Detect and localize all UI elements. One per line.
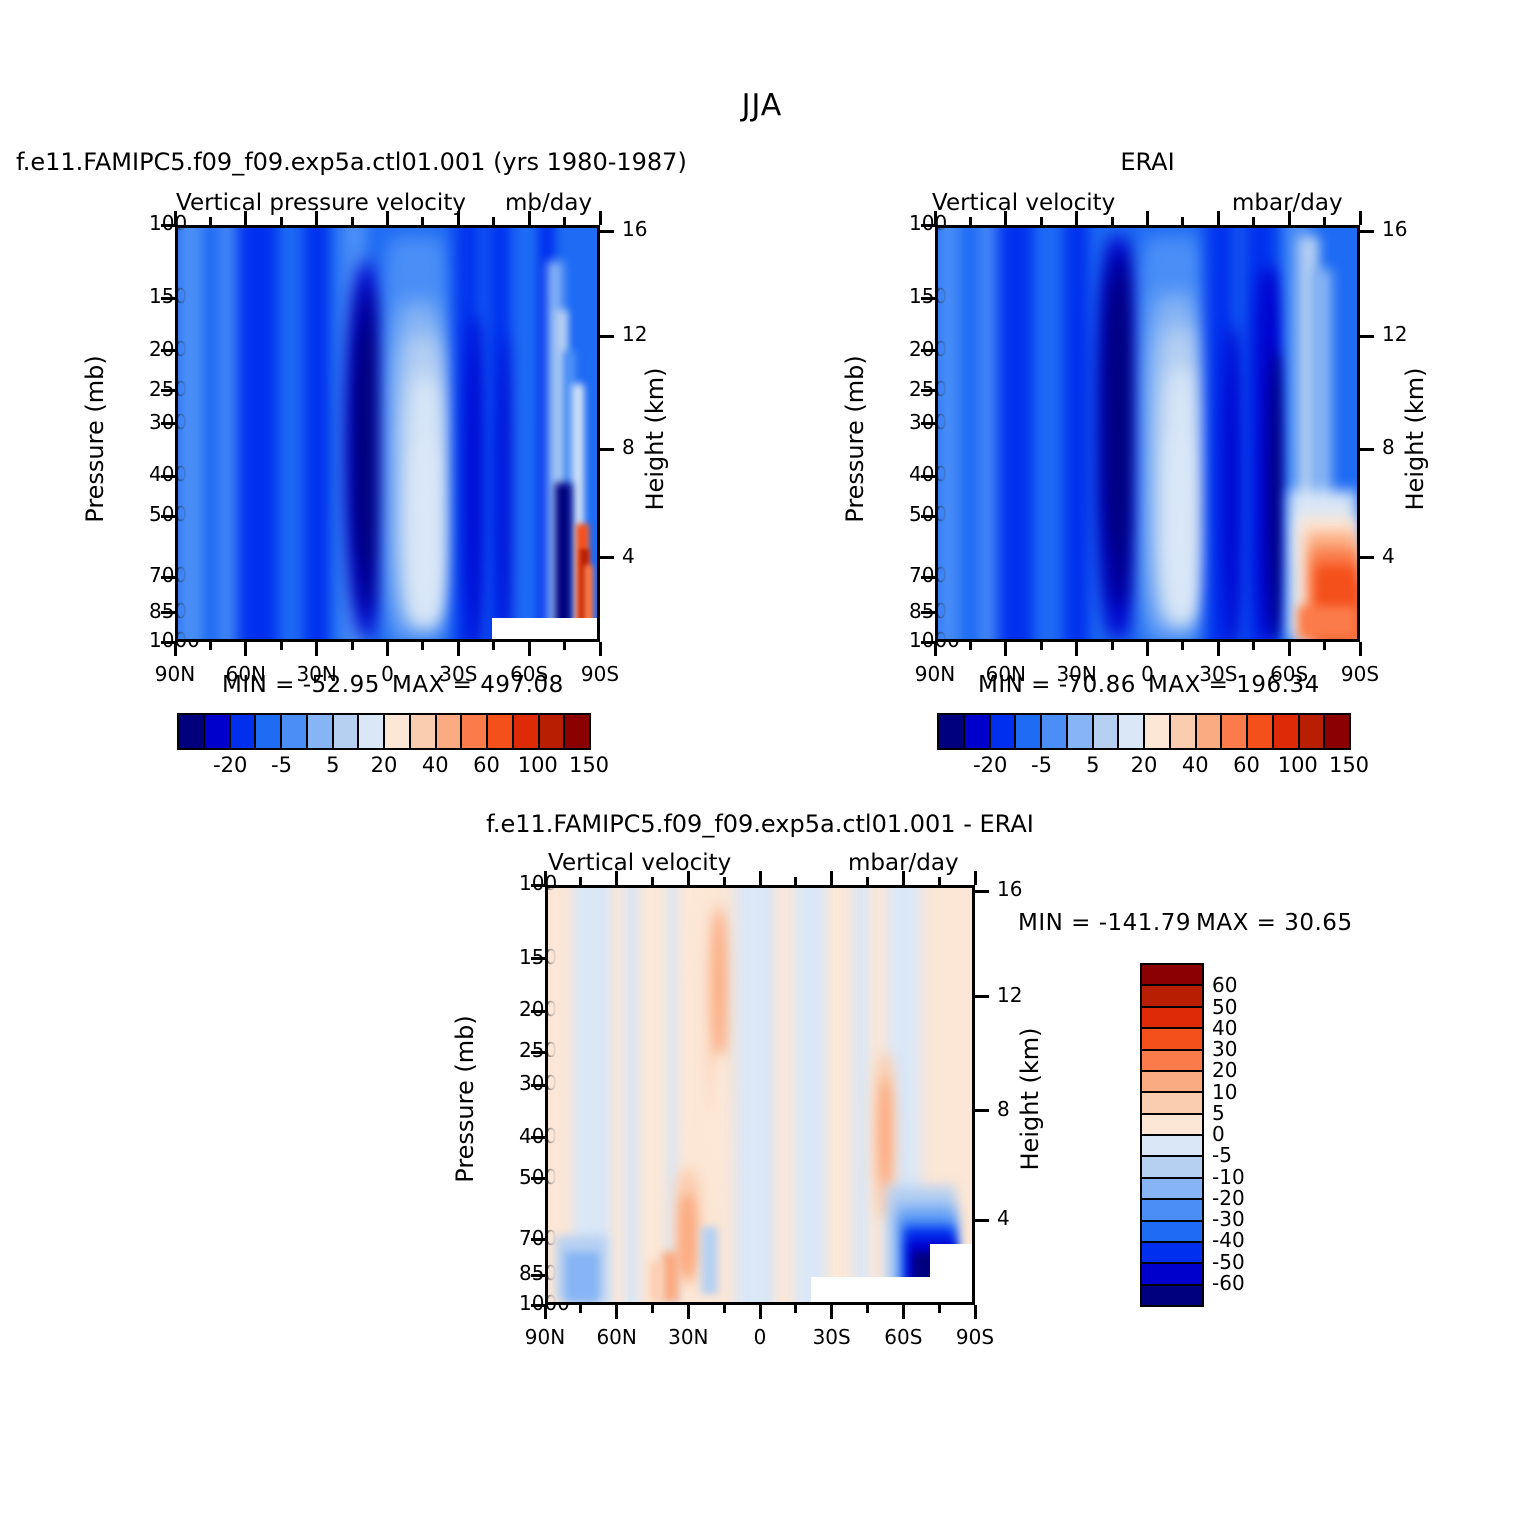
contour-band [879,1078,892,1186]
colorbar-diff-cell-15 [1142,1286,1202,1305]
panel-model-xtick-10 [528,642,531,656]
panel-model-y2tick-4 [600,556,614,559]
panel-obs-y2tick-16 [1360,230,1374,233]
panel-obs-xtick-7 [1181,642,1184,650]
panel-diff-min-text: MIN = -141.79 [1018,910,1191,936]
panel-model-xtick-7 [421,642,424,650]
panel-diff-y2tick-label-12: 12 [997,983,1022,1007]
panel-obs-xtick-label-90N: 90N [895,662,975,686]
cb-model-cell-8 [385,715,411,748]
panel-diff-title: f.e11.FAMIPC5.f09_f09.exp5a.ctl01.001 - … [260,810,1260,838]
terrain-mask [492,618,597,642]
panel-diff-contour-field [548,888,972,1302]
panel-diff-pressure-axis-label: Pressure (mb) [451,999,479,1199]
contour-band [709,1054,734,1178]
cb-obs-cell-3 [1016,715,1042,748]
panel-obs-height-axis-label: Height (km) [1401,339,1429,539]
cb-obs-cell-11 [1222,715,1248,748]
colorbar-diff-cell-0 [1142,965,1202,986]
panel-diff-y2tick-label-16: 16 [997,877,1022,901]
panel-model-xtick-12 [599,642,602,656]
contour-band [735,885,782,1305]
cb-model-cell-14 [540,715,566,748]
panel-model-units-label: mb/day [505,190,592,216]
panel-diff-xtick-label-60N: 60N [577,1325,657,1349]
panel-obs-xtick-6 [1146,642,1149,656]
cb-obs-cell-13 [1274,715,1300,748]
colorbar-diff-cell-3 [1142,1029,1202,1050]
panel-diff-xtick-top-2 [615,871,618,885]
panel-obs-y2tick-label-16: 16 [1382,217,1407,241]
panel-obs-xtick-label-60N: 60N [966,662,1046,686]
cb-obs-cell-9 [1171,715,1197,748]
panel-diff-xtick-top-8 [830,871,833,885]
panel-obs-xtick-label-60S: 60S [1249,662,1329,686]
panel-obs-pressure-axis-label: Pressure (mb) [841,339,869,539]
panel-obs-y2tick-label-8: 8 [1382,435,1395,459]
panel-model-xtick-5 [351,642,354,650]
cb-model-cell-2 [231,715,257,748]
panel-model-xtick-top-1 [209,217,212,225]
colorbar-diff-cell-1 [1142,986,1202,1007]
contour-band [555,483,572,639]
contour-band [413,442,438,623]
cb-model-cell-5 [308,715,334,748]
panel-obs-xtick-top-7 [1181,217,1184,225]
panel-diff-y2tick-label-8: 8 [997,1097,1010,1121]
panel-obs-xtick-top-4 [1075,211,1078,225]
panel-obs-title: ERAI [935,148,1360,176]
contour-band [1269,351,1286,639]
colorbar-diff-cell-12 [1142,1222,1202,1243]
panel-obs-xtick-4 [1075,642,1078,656]
contour-band [565,1252,599,1302]
panel-diff-xtick-4 [687,1305,690,1319]
panel-model-variable-label: Vertical pressure velocity [176,190,466,216]
panel-diff-xtick-label-90N: 90N [505,1325,585,1349]
panel-diff-xtick-top-5 [723,877,726,885]
cb-obs-cell-15 [1325,715,1349,748]
panel-obs-xtick-label-90S: 90S [1320,662,1400,686]
contour-band [794,885,832,1305]
panel-obs-xtick-top-5 [1111,217,1114,225]
cb-obs-cell-8 [1145,715,1171,748]
contour-band [1298,606,1357,639]
panel-model-y2tick-label-8: 8 [622,435,635,459]
panel-model-xtick-label-60N: 60N [206,662,286,686]
colorbar-diff-cell-8 [1142,1136,1202,1157]
panel-diff-xtick-0 [544,1305,547,1319]
panel-model-y2tick-8 [600,448,614,451]
colorbar-diff-cell-10 [1142,1179,1202,1200]
colorbar-diff-cell-7 [1142,1115,1202,1136]
cb-obs-cell-2 [991,715,1017,748]
panel-model-xtick-top-11 [563,217,566,225]
colorbar-diff-cell-11 [1142,1200,1202,1221]
panel-obs-y2tick-label-4: 4 [1382,544,1395,568]
contour-band [1223,327,1244,642]
panel-model-xtick-label-0: 0 [348,662,428,686]
panel-diff-xtick-top-3 [651,877,654,885]
panel-obs-xtick-12 [1359,642,1362,656]
cb-model-label-7: 150 [544,753,634,777]
cb-model-cell-10 [437,715,463,748]
panel-model-xtick-9 [492,642,495,650]
panel-diff-xtick-11 [938,1305,941,1313]
contour-band [679,1194,696,1277]
panel-diff-xtick-top-9 [866,877,869,885]
panel-diff-xtick-top-12 [974,871,977,885]
panel-model-contour-field [178,228,597,639]
panel-model-xtick-top-10 [528,211,531,225]
panel-diff-y2tick-label-4: 4 [997,1206,1010,1230]
panel-diff-xtick-top-4 [687,871,690,885]
cb-obs-cell-7 [1119,715,1145,748]
panel-obs-y2tick-label-12: 12 [1382,322,1407,346]
panel-model-xtick-2 [244,642,247,656]
panel-model-xtick-1 [209,642,212,650]
panel-diff-xtick-label-0: 0 [720,1325,800,1349]
panel-model-xtick-top-9 [492,217,495,225]
colorbar-diff-cell-9 [1142,1157,1202,1178]
colorbar-diff-cell-4 [1142,1051,1202,1072]
panel-diff-y2tick-4 [975,1219,989,1222]
panel-obs-xtick-top-10 [1288,211,1291,225]
panel-model-title: f.e11.FAMIPC5.f09_f09.exp5a.ctl01.001 (y… [16,148,687,176]
contour-band [1311,269,1332,516]
panel-model-xtick-0 [174,642,177,656]
panel-diff-xtick-top-11 [938,877,941,885]
contour-band [1168,434,1193,623]
cb-model-cell-7 [359,715,385,748]
panel-model-xtick-top-8 [457,211,460,225]
panel-obs-xtick-top-11 [1323,217,1326,225]
panel-obs-xtick-11 [1323,642,1326,650]
panel-model-height-axis-label: Height (km) [641,339,669,539]
cb-obs-cell-0 [939,715,965,748]
cb-model-cell-6 [334,715,360,748]
panel-obs-xtick-top-9 [1252,217,1255,225]
colorbar-diff-cell-14 [1142,1264,1202,1285]
figure-suptitle: JJA [0,88,1524,123]
colorbar-obs[interactable] [937,713,1351,750]
panel-model-xtick-top-6 [386,211,389,225]
panel-obs-y2tick-4 [1360,556,1374,559]
colorbar-diff-cell-13 [1142,1243,1202,1264]
cb-obs-cell-12 [1248,715,1274,748]
cb-model-cell-12 [488,715,514,748]
cb-model-cell-3 [256,715,282,748]
panel-diff-xtick-top-7 [794,877,797,885]
panel-diff-xtick-5 [723,1305,726,1313]
panel-diff-xtick-top-6 [759,871,762,885]
panel-diff-xtick-9 [866,1305,869,1313]
panel-model-xtick-label-90N: 90N [135,662,215,686]
panel-obs-xtick-8 [1217,642,1220,656]
panel-obs-xtick-label-30N: 30N [1037,662,1117,686]
panel-obs-xtick-1 [969,642,972,650]
panel-diff-xtick-2 [615,1305,618,1319]
colorbar-diff-cell-6 [1142,1093,1202,1114]
panel-obs-xtick-top-6 [1146,211,1149,225]
cb-model-cell-11 [462,715,488,748]
panel-model-xtick-4 [315,642,318,656]
panel-model-xtick-3 [280,642,283,650]
panel-model-y2tick-label-4: 4 [622,544,635,568]
panel-obs-xtick-9 [1252,642,1255,650]
panel-diff-xtick-1 [579,1305,582,1313]
colorbar-diff-cell-5 [1142,1072,1202,1093]
colorbar-diff[interactable] [1140,963,1204,1307]
contour-band [467,318,484,642]
panel-obs-xtick-top-1 [969,217,972,225]
panel-model-xtick-top-2 [244,211,247,225]
panel-model-y2tick-16 [600,230,614,233]
colorbar-diff-label-14: -60 [1212,1271,1282,1295]
cb-obs-label-7: 150 [1304,753,1394,777]
panel-obs-y2tick-8 [1360,448,1374,451]
panel-model-xtick-label-30N: 30N [277,662,357,686]
panel-obs-xtick-top-0 [934,211,937,225]
panel-obs-xtick-top-12 [1359,211,1362,225]
panel-diff-max-text: MAX = 30.65 [1196,910,1353,936]
contour-band [713,913,726,1054]
panel-model-pressure-axis-label: Pressure (mb) [81,339,109,539]
panel-diff-xtick-label-30S: 30S [792,1325,872,1349]
panel-model-xtick-top-3 [280,217,283,225]
cb-obs-cell-1 [965,715,991,748]
panel-obs-variable-label: Vertical velocity [932,190,1115,216]
panel-obs-y2tick-12 [1360,335,1374,338]
panel-model-xtick-6 [386,642,389,656]
cb-model-cell-9 [411,715,437,748]
cb-model-cell-1 [205,715,231,748]
panel-diff-xtick-label-90S: 90S [935,1325,1015,1349]
panel-diff-y2tick-12 [975,995,989,998]
cb-obs-cell-10 [1197,715,1223,748]
colorbar-diff-cell-2 [1142,1008,1202,1029]
panel-model-xtick-top-7 [421,217,424,225]
panel-model-y2tick-label-16: 16 [622,217,647,241]
panel-obs-xtick-top-8 [1217,211,1220,225]
panel-model-xtick-label-30S: 30S [418,662,498,686]
contour-band [701,1227,718,1293]
panel-diff-height-axis-label: Height (km) [1016,999,1044,1199]
panel-obs-xtick-2 [1004,642,1007,656]
panel-model-xtick-8 [457,642,460,656]
contour-band [1110,277,1127,548]
panel-model-y2tick-12 [600,335,614,338]
panel-diff-xtick-6 [759,1305,762,1319]
panel-model-xtick-top-0 [174,211,177,225]
panel-model-plot-area [175,225,600,642]
cb-model-cell-15 [565,715,589,748]
panel-obs-xtick-5 [1111,642,1114,650]
panel-obs-xtick-10 [1288,642,1291,656]
panel-diff-xtick-top-10 [902,871,905,885]
panel-obs-xtick-3 [1040,642,1043,650]
panel-diff-xtick-top-1 [579,877,582,885]
panel-obs-xtick-top-2 [1004,211,1007,225]
panel-obs-xtick-top-3 [1040,217,1043,225]
panel-model-xtick-top-5 [351,217,354,225]
panel-obs-xtick-label-30S: 30S [1178,662,1258,686]
panel-diff-variable-label: Vertical velocity [548,850,731,876]
panel-model-y2tick-label-12: 12 [622,322,647,346]
colorbar-model[interactable] [177,713,591,750]
cb-obs-cell-4 [1042,715,1068,748]
panel-diff-xtick-top-0 [544,871,547,885]
cb-model-cell-13 [514,715,540,748]
cb-obs-cell-6 [1094,715,1120,748]
panel-diff-y2tick-16 [975,890,989,893]
panel-diff-xtick-label-60S: 60S [863,1325,943,1349]
panel-obs-xtick-0 [934,642,937,656]
panel-obs-contour-field [938,228,1357,639]
cb-obs-cell-14 [1300,715,1326,748]
panel-diff-xtick-label-30N: 30N [648,1325,728,1349]
contour-band [662,1252,679,1302]
panel-diff-xtick-8 [830,1305,833,1319]
panel-model-xtick-top-4 [315,211,318,225]
panel-diff-xtick-7 [794,1305,797,1313]
panel-model-xtick-label-90S: 90S [560,662,640,686]
panel-obs-plot-area [935,225,1360,642]
terrain-mask [930,1244,972,1305]
contour-band [650,1261,663,1302]
panel-diff-xtick-10 [902,1305,905,1319]
panel-diff-xtick-12 [974,1305,977,1319]
cb-obs-cell-5 [1068,715,1094,748]
panel-model-xtick-11 [563,642,566,650]
panel-model-xtick-label-60S: 60S [489,662,569,686]
cb-model-cell-4 [282,715,308,748]
panel-diff-xtick-3 [651,1305,654,1313]
panel-model-xtick-top-12 [599,211,602,225]
panel-diff-y2tick-8 [975,1109,989,1112]
contour-band [358,327,375,565]
cb-model-cell-0 [179,715,205,748]
panel-diff-plot-area [545,885,975,1305]
panel-obs-xtick-label-0: 0 [1108,662,1188,686]
